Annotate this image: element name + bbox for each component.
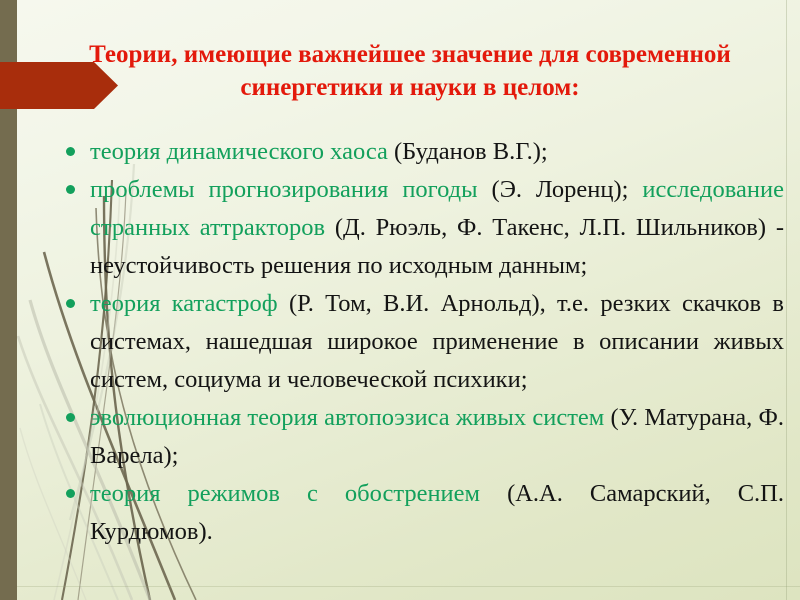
title-line-2: синергетики и науки в целом:: [60, 71, 760, 104]
bullet-list: теория динамического хаоса (Буданов В.Г.…: [58, 133, 784, 551]
bullet-term: теория режимов с обострением: [90, 480, 507, 507]
list-item: теория режимов с обострением (А.А. Самар…: [58, 475, 784, 551]
list-item: теория динамического хаоса (Буданов В.Г.…: [58, 133, 784, 171]
bullet-term: проблемы прогнозирования погоды: [90, 176, 492, 203]
bullet-term: теория катастроф: [90, 290, 289, 317]
bullet-dot-icon: [66, 489, 75, 498]
bullet-term: эволюционная теория автопоэзиса живых си…: [90, 404, 611, 431]
bottom-edge-rule: [0, 586, 800, 587]
title-line-1: Теории, имеющие важнейшее значение для с…: [60, 38, 760, 71]
bullet-term: теория динамического хаоса: [90, 138, 394, 165]
right-edge-rule: [786, 0, 787, 600]
list-item: теория катастроф (Р. Том, В.И. Арнольд),…: [58, 285, 784, 399]
slide-canvas: Теории, имеющие важнейшее значение для с…: [0, 0, 800, 600]
bullet-attribution: (Буданов В.Г.);: [394, 138, 548, 165]
list-item: эволюционная теория автопоэзиса живых си…: [58, 399, 784, 475]
bullet-dot-icon: [66, 299, 75, 308]
bullet-attribution: (Э. Лоренц);: [492, 176, 643, 203]
bullet-dot-icon: [66, 413, 75, 422]
arrow-banner-icon: [0, 62, 118, 109]
bullet-dot-icon: [66, 185, 75, 194]
list-item: проблемы прогнозирования погоды (Э. Лоре…: [58, 171, 784, 285]
bullet-dot-icon: [66, 147, 75, 156]
page-title: Теории, имеющие важнейшее значение для с…: [60, 38, 760, 104]
